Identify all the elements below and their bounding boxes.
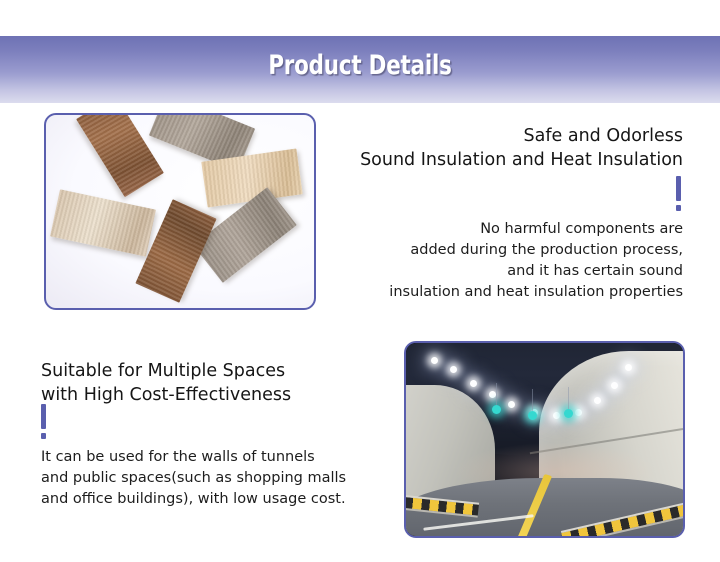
- ceiling-lamp-icon: [625, 364, 632, 371]
- product-panels-image: [44, 113, 316, 310]
- ceiling-lamp-icon: [575, 409, 582, 416]
- panel-sample-dark-walnut: [76, 113, 164, 197]
- exclamation-divider-icon-2: [41, 404, 46, 439]
- panel-sample-cream-beech: [50, 189, 156, 256]
- section-body-sound-insulation: No harmful components are added during t…: [389, 219, 683, 303]
- ceiling-lamp-icon: [611, 382, 618, 389]
- section-heading-sound-insulation: Safe and Odorless Sound Insulation and H…: [360, 124, 683, 172]
- divider-bar: [41, 404, 46, 429]
- divider-dot: [41, 433, 46, 439]
- page-title: Product Details: [43, 50, 677, 81]
- hanging-teal-lamp-icon: [492, 405, 501, 414]
- divider-bar: [676, 176, 681, 201]
- divider-dot: [676, 205, 681, 211]
- ceiling-lamp-icon: [431, 357, 438, 364]
- ceiling-lamp-icon: [470, 380, 477, 387]
- hanging-teal-lamp-icon: [564, 409, 573, 418]
- exclamation-divider-icon: [676, 176, 681, 211]
- section-heading-multiple-spaces: Suitable for Multiple Spaces with High C…: [41, 359, 291, 407]
- hanging-teal-lamp-icon: [528, 411, 537, 420]
- section-body-multiple-spaces: It can be used for the walls of tunnels …: [41, 447, 346, 510]
- tunnel-artwork: [406, 343, 683, 536]
- tunnel-application-image: [404, 341, 685, 538]
